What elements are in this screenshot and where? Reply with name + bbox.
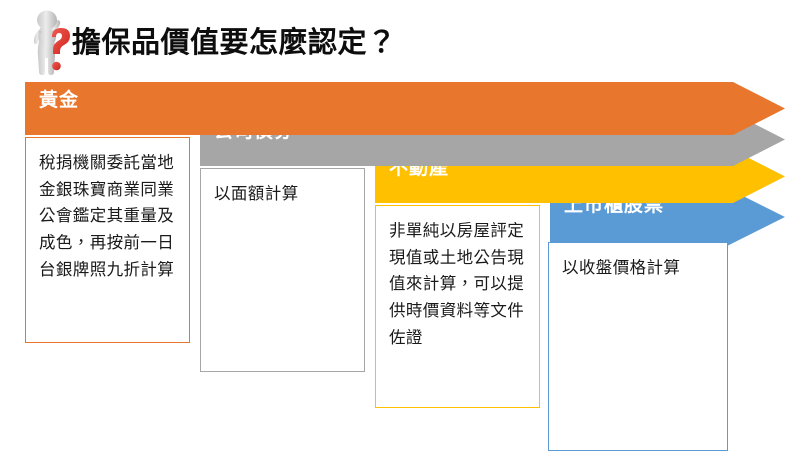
text-box-stock-body: 以收盤價格計算 <box>562 255 714 282</box>
text-box-gold: 稅捐機關委託當地金銀珠寶商業同業公會鑑定其重量及成色，再按前一日台銀牌照九折計算 <box>25 137 190 343</box>
text-box-estate-body: 非單純以房屋評定現值或土地公告現值來計算，可以提供時價資料等文件佐證 <box>389 218 526 352</box>
arrow-label-gold: 黃金 <box>39 91 79 112</box>
text-box-bond: 以面額計算 <box>200 168 365 372</box>
text-box-estate: 非單純以房屋評定現值或土地公告現值來計算，可以提供時價資料等文件佐證 <box>375 205 540 408</box>
slide-canvas: 擔保品價值要怎麼認定？ 黃金 公司債券 不動產 上市櫃股票 稅捐機關委託當地金銀… <box>0 0 800 470</box>
arrow-shape-gold <box>25 82 785 135</box>
text-box-bond-body: 以面額計算 <box>214 181 351 208</box>
slide-header: 擔保品價值要怎麼認定？ <box>22 8 397 78</box>
page-title: 擔保品價值要怎麼認定？ <box>72 29 397 58</box>
thinking-person-question-mark-icon <box>22 8 78 78</box>
text-box-gold-body: 稅捐機關委託當地金銀珠寶商業同業公會鑑定其重量及成色，再按前一日台銀牌照九折計算 <box>39 150 176 284</box>
text-box-stock: 以收盤價格計算 <box>548 242 728 451</box>
arrow-banner-gold[interactable]: 黃金 <box>25 82 785 135</box>
